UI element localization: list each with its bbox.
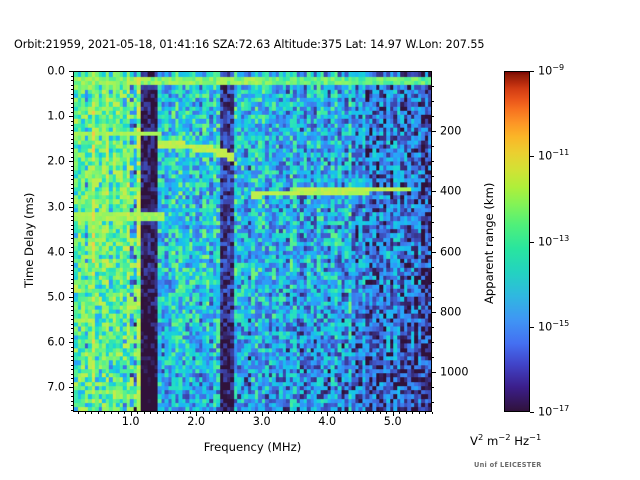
right-tick-minor	[432, 402, 434, 403]
x-tick-minor	[104, 412, 105, 414]
colorbar-tick-exponent: −9	[552, 63, 564, 72]
x-tick-major	[327, 412, 328, 416]
x-tick-minor	[170, 412, 171, 414]
x-tick-minor	[360, 412, 361, 414]
right-tick-minor	[432, 222, 434, 223]
units-hz-exponent: −1	[529, 432, 541, 442]
x-tick-minor	[281, 412, 282, 414]
x-tick-minor	[419, 412, 420, 414]
right-tick-minor	[432, 282, 434, 283]
x-tick-minor	[334, 412, 335, 414]
right-tick-minor	[432, 267, 434, 268]
x-tick-minor	[137, 412, 138, 414]
right-tick-minor	[432, 297, 434, 298]
colorbar	[504, 71, 530, 412]
x-tick-minor	[190, 412, 191, 414]
right-tick-minor	[432, 101, 434, 102]
y-tick-label: 4.0	[31, 245, 65, 258]
y-tick-label: 6.0	[31, 336, 65, 349]
colorbar-tick-label: 10−15	[538, 320, 569, 333]
x-tick-minor	[268, 412, 269, 414]
right-tick-minor	[432, 86, 434, 87]
x-tick-minor	[144, 412, 145, 414]
units-v: V	[470, 434, 478, 448]
x-tick-minor	[255, 412, 256, 414]
y-tick-label: 7.0	[31, 381, 65, 394]
colorbar-tick-base: 10	[538, 406, 552, 419]
colorbar-tick	[530, 412, 534, 413]
x-tick-minor	[222, 412, 223, 414]
right-tick-label: 200	[440, 125, 461, 138]
x-axis-title: Frequency (MHz)	[204, 440, 301, 454]
x-tick-minor	[340, 412, 341, 414]
right-tick-minor	[432, 387, 434, 388]
units-hz: Hz	[514, 434, 529, 448]
x-tick-minor	[203, 412, 204, 414]
x-tick-major	[131, 412, 132, 416]
right-tick-minor	[432, 342, 434, 343]
x-tick-label: 2.0	[187, 415, 205, 428]
right-tick-minor	[432, 176, 434, 177]
x-tick-minor	[111, 412, 112, 414]
colorbar-tick-exponent: −11	[552, 148, 569, 157]
x-tick-minor	[406, 412, 407, 414]
right-axis-title: Apparent range (km)	[482, 182, 496, 303]
colorbar-tick-base: 10	[538, 150, 552, 163]
x-tick-minor	[183, 412, 184, 414]
x-tick-minor	[209, 412, 210, 414]
x-tick-minor	[150, 412, 151, 414]
colorbar-tick-label: 10−9	[538, 65, 564, 78]
x-tick-label: 5.0	[384, 415, 402, 428]
x-tick-minor	[353, 412, 354, 414]
x-tick-minor	[399, 412, 400, 414]
x-tick-minor	[229, 412, 230, 414]
colorbar-tick-exponent: −15	[552, 319, 569, 328]
colorbar-tick-label: 10−13	[538, 235, 569, 248]
x-tick-label: 1.0	[122, 415, 140, 428]
x-tick-minor	[85, 412, 86, 414]
x-tick-minor	[412, 412, 413, 414]
colorbar-tick-exponent: −13	[552, 233, 569, 242]
x-tick-minor	[380, 412, 381, 414]
y-tick-label: 5.0	[31, 290, 65, 303]
y-axis-title: Time Delay (ms)	[22, 192, 36, 287]
colorbar-tick-base: 10	[538, 65, 552, 78]
right-tick-label: 1000	[440, 366, 468, 379]
y-tick-label: 3.0	[31, 200, 65, 213]
x-tick-minor	[314, 412, 315, 414]
right-tick-label: 600	[440, 245, 461, 258]
x-tick-minor	[294, 412, 295, 414]
colorbar-tick	[530, 156, 534, 157]
right-tick-label: 400	[440, 185, 461, 198]
colorbar-tick	[530, 71, 534, 72]
x-tick-label: 3.0	[253, 415, 271, 428]
right-tick-major	[432, 312, 436, 313]
x-tick-minor	[301, 412, 302, 414]
right-tick-minor	[432, 161, 434, 162]
colorbar-tick-base: 10	[538, 235, 552, 248]
colorbar-units-label: V2 m−2 Hz−1	[470, 434, 541, 448]
x-tick-minor	[216, 412, 217, 414]
colorbar-tick-label: 10−11	[538, 150, 569, 163]
x-tick-minor	[91, 412, 92, 414]
units-m: m	[487, 434, 498, 448]
colorbar-tick	[530, 242, 534, 243]
colorbar-tick-base: 10	[538, 320, 552, 333]
institution-credit: Uni of LEICESTER	[474, 461, 542, 469]
right-tick-minor	[432, 116, 434, 117]
colorbar-tick-exponent: −17	[552, 404, 569, 413]
x-tick-minor	[177, 412, 178, 414]
right-tick-minor	[432, 357, 434, 358]
x-tick-minor	[432, 412, 433, 414]
y-tick-label: 1.0	[31, 110, 65, 123]
right-tick-major	[432, 372, 436, 373]
x-tick-minor	[367, 412, 368, 414]
x-tick-minor	[249, 412, 250, 414]
x-tick-minor	[157, 412, 158, 414]
right-tick-major	[432, 191, 436, 192]
right-tick-minor	[432, 237, 434, 238]
x-tick-minor	[118, 412, 119, 414]
x-tick-minor	[347, 412, 348, 414]
right-tick-major	[432, 131, 436, 132]
units-m-exponent: −2	[498, 432, 510, 442]
y-tick-label: 0.0	[31, 65, 65, 78]
x-tick-minor	[373, 412, 374, 414]
x-tick-minor	[236, 412, 237, 414]
x-tick-minor	[78, 412, 79, 414]
right-tick-minor	[432, 327, 434, 328]
y-tick-label: 2.0	[31, 155, 65, 168]
x-tick-minor	[288, 412, 289, 414]
x-tick-major	[262, 412, 263, 416]
x-tick-minor	[98, 412, 99, 414]
x-tick-label: 4.0	[318, 415, 336, 428]
right-tick-major	[432, 252, 436, 253]
x-tick-minor	[425, 412, 426, 414]
right-tick-minor	[432, 146, 434, 147]
x-tick-major	[196, 412, 197, 416]
colorbar-tick	[530, 327, 534, 328]
figure-title: Orbit:21959, 2021-05-18, 01:41:16 SZA:72…	[14, 38, 484, 51]
radargram-plot-area	[73, 71, 432, 412]
x-tick-minor	[242, 412, 243, 414]
x-tick-minor	[386, 412, 387, 414]
right-tick-minor	[432, 206, 434, 207]
x-tick-minor	[321, 412, 322, 414]
radargram-heatmap	[74, 72, 431, 411]
colorbar-tick-label: 10−17	[538, 406, 569, 419]
right-tick-label: 800	[440, 305, 461, 318]
x-tick-minor	[275, 412, 276, 414]
x-tick-major	[393, 412, 394, 416]
x-tick-minor	[308, 412, 309, 414]
x-tick-minor	[163, 412, 164, 414]
x-tick-minor	[124, 412, 125, 414]
units-v-exponent: 2	[478, 432, 483, 442]
figure-canvas: Orbit:21959, 2021-05-18, 01:41:16 SZA:72…	[0, 0, 640, 480]
